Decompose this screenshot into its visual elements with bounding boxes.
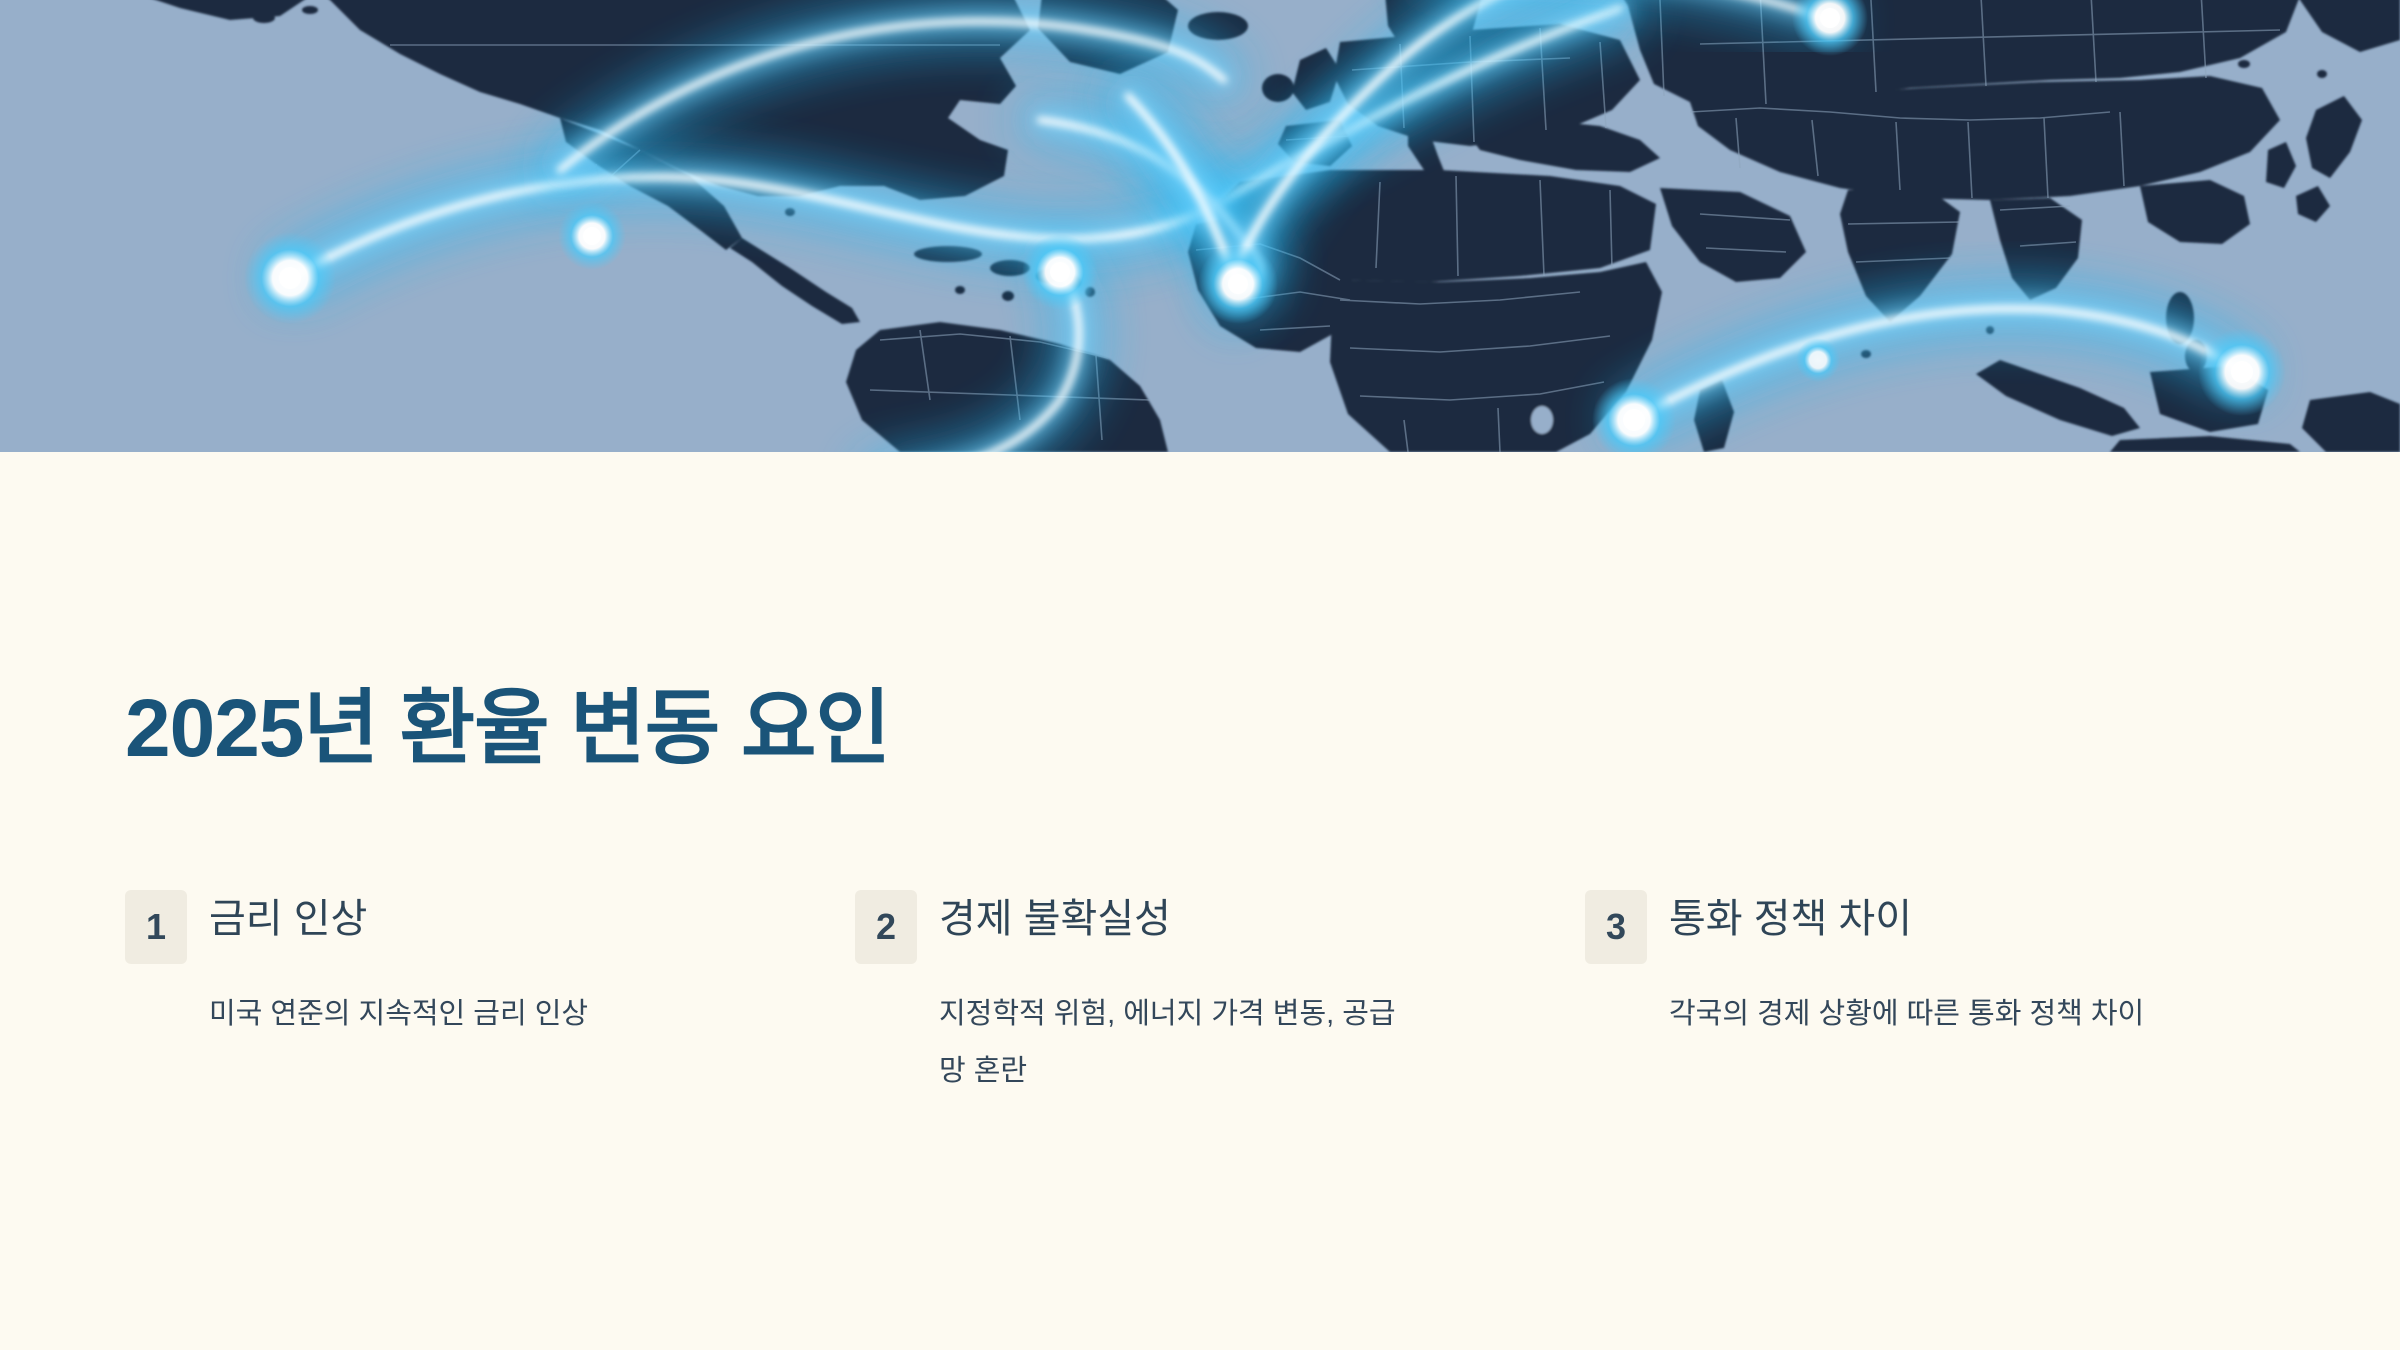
- factor-3-description: 각국의 경제 상황에 따른 통화 정책 차이: [1669, 986, 2145, 1043]
- factor-1-title: 금리 인상: [209, 890, 367, 942]
- factor-3-header: 3 통화 정책 차이: [1585, 890, 2145, 964]
- factor-item-2: 2 경제 불확실성 지정학적 위험, 에너지 가격 변동, 공급망 혼란: [855, 890, 1585, 1099]
- factor-2-header: 2 경제 불확실성: [855, 890, 1415, 964]
- factor-1-number-badge: 1: [125, 890, 187, 964]
- slide-root: 2025년 환율 변동 요인 1 금리 인상 미국 연준의 지속적인 금리 인상…: [0, 0, 2400, 1350]
- factor-3-number-badge: 3: [1585, 890, 1647, 964]
- factor-2-description: 지정학적 위험, 에너지 가격 변동, 공급망 혼란: [939, 986, 1415, 1099]
- factor-1-header: 1 금리 인상: [125, 890, 685, 964]
- factors-list: 1 금리 인상 미국 연준의 지속적인 금리 인상 2 경제 불확실성 지정학적…: [125, 890, 2305, 1099]
- world-map-graphic: [0, 0, 2400, 452]
- factor-2-title: 경제 불확실성: [939, 890, 1171, 942]
- hero-world-map: [0, 0, 2400, 452]
- content-area: 2025년 환율 변동 요인 1 금리 인상 미국 연준의 지속적인 금리 인상…: [0, 452, 2400, 1350]
- factor-item-3: 3 통화 정책 차이 각국의 경제 상황에 따른 통화 정책 차이: [1585, 890, 2315, 1099]
- factor-2-number-badge: 2: [855, 890, 917, 964]
- factor-item-1: 1 금리 인상 미국 연준의 지속적인 금리 인상: [125, 890, 855, 1099]
- page-title: 2025년 환율 변동 요인: [125, 688, 890, 770]
- factor-1-description: 미국 연준의 지속적인 금리 인상: [209, 986, 685, 1043]
- factor-3-title: 통화 정책 차이: [1669, 890, 1912, 942]
